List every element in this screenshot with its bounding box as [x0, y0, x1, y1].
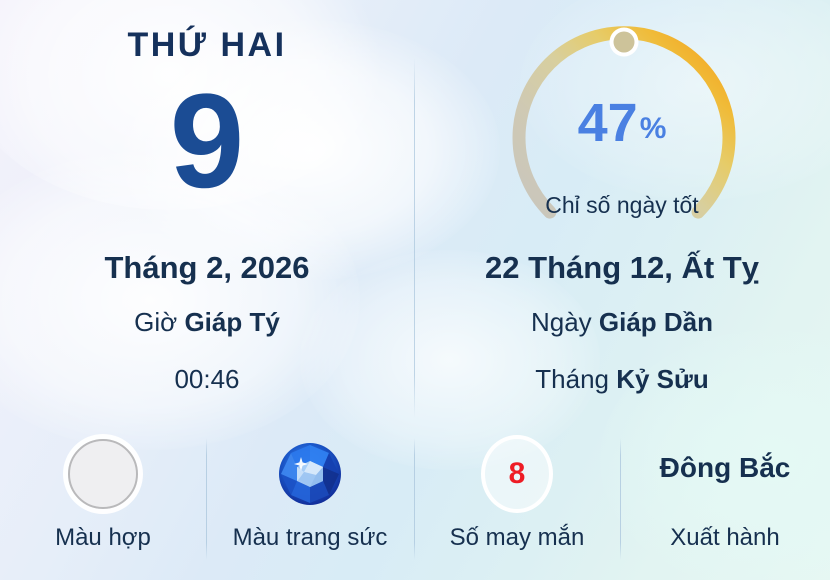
lunar-date-panel: 47% Chỉ số ngày tốt 22 Tháng 12, Ất Tỵ N… [414, 0, 830, 420]
gauge-percent-symbol: % [640, 112, 667, 145]
gemstone-icon [274, 438, 346, 510]
attribute-jewelry-color[interactable]: Màu trang sức [206, 420, 414, 580]
lunar-month-prefix: Tháng [535, 364, 616, 394]
lunar-calendar-widget: THỨ HAI 9 Tháng 2, 2026 Giờ Giáp Tý 00:4… [0, 0, 830, 580]
attributes-row: Màu hợp [0, 420, 830, 580]
calendar-top-section: THỨ HAI 9 Tháng 2, 2026 Giờ Giáp Tý 00:4… [0, 0, 830, 420]
lucky-number-icon: 8 [481, 438, 553, 510]
hour-prefix: Giờ [134, 307, 184, 337]
clock-time: 00:46 [0, 364, 414, 395]
lunar-day-value: Giáp Dần [599, 307, 713, 337]
lunar-month-value: Kỷ Sửu [616, 364, 709, 394]
lucky-number-value: 8 [481, 435, 553, 513]
lunar-month-line: Tháng Kỷ Sửu [414, 364, 830, 395]
gauge-value-number: 47 [578, 93, 638, 153]
attribute-label: Xuất hành [620, 524, 830, 552]
gauge-value: 47% [414, 96, 830, 150]
solar-date-panel: THỨ HAI 9 Tháng 2, 2026 Giờ Giáp Tý 00:4… [0, 0, 414, 420]
month-year-label: Tháng 2, 2026 [0, 250, 414, 286]
lunar-day-line: Ngày Giáp Dần [414, 307, 830, 338]
weekday-label: THỨ HAI [0, 26, 414, 65]
day-number: 9 [0, 75, 414, 209]
gauge-caption: Chỉ số ngày tốt [414, 192, 830, 219]
color-swatch-icon [67, 438, 139, 510]
gauge-knob [614, 32, 635, 53]
attribute-label: Màu hợp [0, 524, 206, 552]
lunar-date-label: 22 Tháng 12, Ất Tỵ [414, 250, 830, 286]
hour-value: Giáp Tý [184, 307, 279, 337]
direction-value: Đông Bắc [620, 452, 830, 484]
lunar-day-prefix: Ngày [531, 307, 599, 337]
attribute-travel-direction[interactable]: Đông Bắc Xuất hành [620, 420, 830, 580]
attribute-label: Màu trang sức [206, 524, 414, 552]
attribute-lucky-color[interactable]: Màu hợp [0, 420, 206, 580]
hour-line: Giờ Giáp Tý [0, 307, 414, 338]
attribute-lucky-number[interactable]: 8 Số may mắn [414, 420, 620, 580]
attribute-label: Số may mắn [414, 524, 620, 552]
